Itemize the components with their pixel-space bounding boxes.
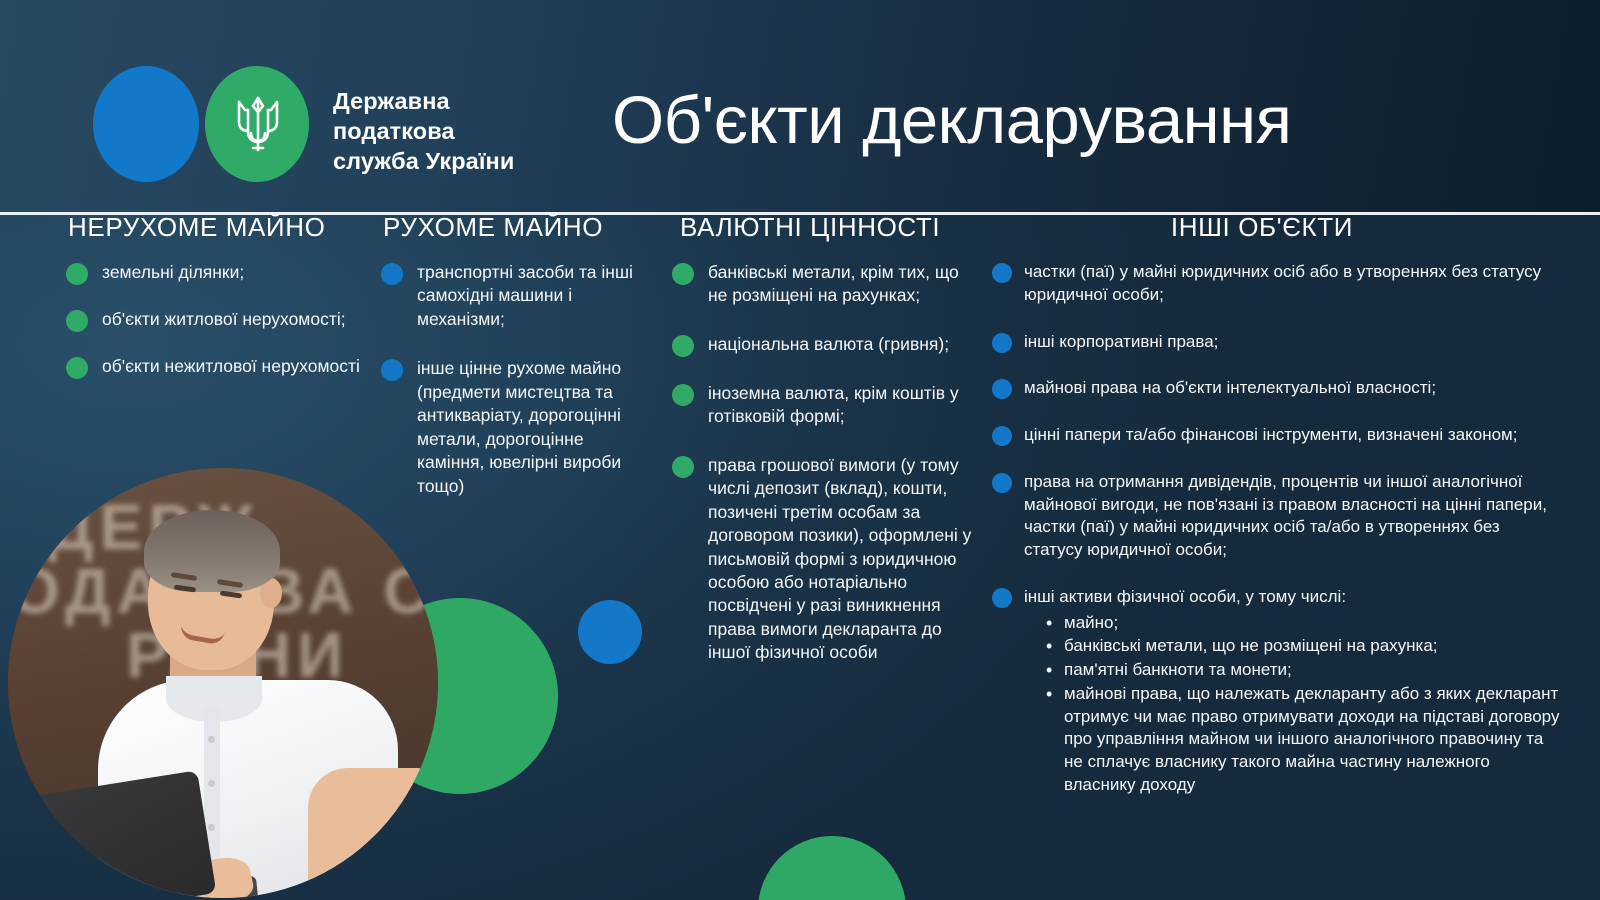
column-inshi-obyekty: ІНШІ ОБ'ЄКТИ частки (паї) у майні юридич… (992, 212, 1562, 822)
sub-bullet-list: майно; банківські метали, що не розміщен… (1024, 612, 1562, 797)
agency-name-line-1: Державна (333, 86, 633, 116)
list-item: об'єкти житлової нерухомості; (66, 308, 366, 332)
content-columns: НЕРУХОМЕ МАЙНО земельні ділянки; об'єкти… (0, 212, 1600, 900)
logo-blue-circle-icon (93, 66, 199, 182)
list-item-text: цінні папери та/або фінансові інструмент… (1024, 424, 1517, 447)
infographic-poster: ДЕРЖ ОДАТ ВА С РАЇНИ (0, 0, 1600, 900)
column-title: ІНШІ ОБ'ЄКТИ (992, 212, 1562, 243)
list-item-text: права на отримання дивідендів, процентів… (1024, 471, 1562, 562)
list-item-text: національна валюта (гривня); (708, 333, 949, 356)
column-valyutni-tsinnosti: ВАЛЮТНІ ЦІННОСТІ банківські метали, крім… (672, 212, 972, 690)
column-title: ВАЛЮТНІ ЦІННОСТІ (672, 212, 972, 243)
bullet-list: банківські метали, крім тих, що не розмі… (672, 261, 972, 665)
list-item-text: інше цінне рухоме майно (предмети мистец… (417, 357, 643, 498)
agency-logo: Державна податкова служба України (93, 64, 573, 184)
list-item-text: інші активи фізичної особи, у тому числі… (1024, 587, 1346, 606)
list-item-text: транспортні засоби та інші самохідні маш… (417, 261, 643, 331)
list-item: частки (паї) у майні юридичних осіб або … (992, 261, 1562, 307)
column-neruhome-maino: НЕРУХОМЕ МАЙНО земельні ділянки; об'єкти… (66, 212, 366, 402)
bullet-dot-icon (992, 473, 1012, 493)
bullet-dot-icon (992, 588, 1012, 608)
column-ruhome-maino: РУХОМЕ МАЙНО транспортні засоби та інші … (381, 212, 643, 524)
bullet-dot-icon (672, 456, 694, 478)
list-item: інше цінне рухоме майно (предмети мистец… (381, 357, 643, 498)
bullet-dot-icon (672, 384, 694, 406)
sub-list-item: пам'ятні банкноти та монети; (1046, 659, 1562, 682)
list-item-text: земельні ділянки; (102, 261, 244, 284)
list-item: цінні папери та/або фінансові інструмент… (992, 424, 1562, 447)
column-title: НЕРУХОМЕ МАЙНО (66, 212, 366, 243)
list-item: майнові права на об'єкти інтелектуальної… (992, 377, 1562, 400)
list-item-text: банківські метали, крім тих, що не розмі… (708, 261, 972, 308)
bullet-list: частки (паї) у майні юридичних осіб або … (992, 261, 1562, 798)
list-item: права на отримання дивідендів, процентів… (992, 471, 1562, 562)
bullet-dot-icon (672, 263, 694, 285)
agency-name-line-3: служба України (333, 146, 633, 176)
list-item-text: об'єкти житлової нерухомості; (102, 308, 346, 331)
list-item-text: права грошової вимоги (у тому числі депо… (708, 454, 972, 665)
bullet-dot-icon (66, 357, 88, 379)
sub-list-item: банківські метали, що не розміщені на ра… (1046, 635, 1562, 658)
list-item-text: частки (паї) у майні юридичних осіб або … (1024, 261, 1562, 307)
trident-icon (231, 92, 285, 156)
list-item: інші активи фізичної особи, у тому числі… (992, 586, 1562, 798)
bullet-list: транспортні засоби та інші самохідні маш… (381, 261, 643, 498)
list-item-text: іноземна валюта, крім коштів у готівкові… (708, 382, 972, 429)
sub-list-item: майно; (1046, 612, 1562, 635)
list-item: інші корпоративні права; (992, 331, 1562, 354)
bullet-dot-icon (672, 335, 694, 357)
bullet-list: земельні ділянки; об'єкти житлової нерух… (66, 261, 366, 379)
bullet-dot-icon (66, 310, 88, 332)
list-item: банківські метали, крім тих, що не розмі… (672, 261, 972, 308)
bullet-dot-icon (992, 263, 1012, 283)
bullet-dot-icon (992, 426, 1012, 446)
list-item: об'єкти нежитлової нерухомості (66, 355, 366, 379)
bullet-dot-icon (992, 379, 1012, 399)
page-title: Об'єкти декларування (612, 82, 1291, 159)
poster-header: Державна податкова служба України Об'єкт… (0, 0, 1600, 212)
list-item: права грошової вимоги (у тому числі депо… (672, 454, 972, 665)
list-item: земельні ділянки; (66, 261, 366, 285)
list-item-text: інші корпоративні права; (1024, 331, 1218, 354)
column-title: РУХОМЕ МАЙНО (381, 212, 643, 243)
list-item-text: об'єкти нежитлової нерухомості (102, 355, 360, 378)
agency-name: Державна податкова служба України (333, 86, 633, 176)
bullet-dot-icon (992, 333, 1012, 353)
agency-name-line-2: податкова (333, 116, 633, 146)
bullet-dot-icon (381, 359, 403, 381)
bullet-dot-icon (66, 263, 88, 285)
list-item-text: майнові права на об'єкти інтелектуальної… (1024, 377, 1436, 400)
list-item: транспортні засоби та інші самохідні маш… (381, 261, 643, 331)
sub-list-item: майнові права, що належать декларанту аб… (1046, 683, 1562, 797)
list-item: національна валюта (гривня); (672, 333, 972, 357)
bullet-dot-icon (381, 263, 403, 285)
list-item: іноземна валюта, крім коштів у готівкові… (672, 382, 972, 429)
